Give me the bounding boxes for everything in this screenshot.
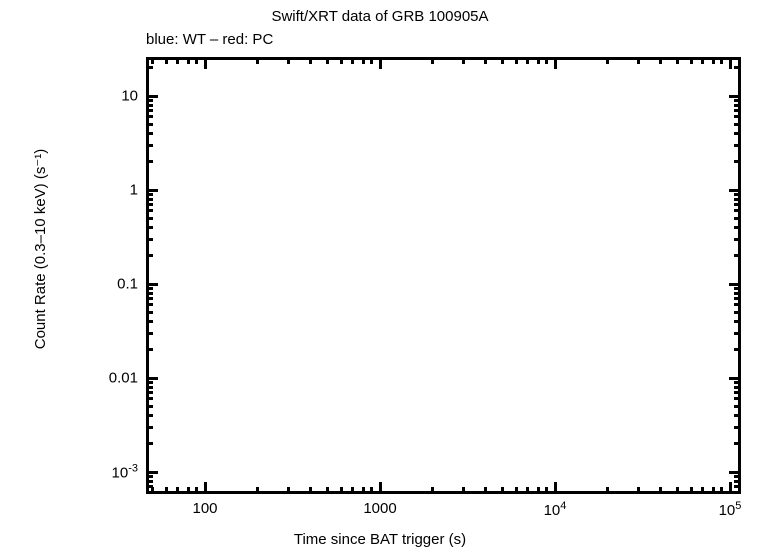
x-major-tick bbox=[204, 482, 207, 494]
y-minor-tick-right bbox=[734, 405, 741, 408]
x-minor-tick-top bbox=[712, 57, 715, 64]
y-minor-tick bbox=[146, 405, 153, 408]
y-minor-tick-right bbox=[734, 203, 741, 206]
x-minor-tick bbox=[712, 487, 715, 494]
y-minor-tick-right bbox=[734, 104, 741, 107]
x-major-tick bbox=[554, 482, 557, 494]
y-minor-tick bbox=[146, 485, 153, 488]
x-minor-tick-top bbox=[676, 57, 679, 64]
y-minor-tick bbox=[146, 311, 153, 314]
x-minor-tick-top bbox=[501, 57, 504, 64]
y-minor-tick-right bbox=[734, 381, 741, 384]
x-minor-tick bbox=[309, 487, 312, 494]
x-minor-tick-top bbox=[151, 57, 154, 64]
y-minor-tick bbox=[146, 123, 153, 126]
x-minor-tick bbox=[351, 487, 354, 494]
y-major-tick-right bbox=[729, 471, 741, 474]
x-minor-tick bbox=[606, 487, 609, 494]
y-minor-tick bbox=[146, 66, 153, 69]
y-minor-tick-right bbox=[734, 238, 741, 241]
plot-frame bbox=[146, 57, 741, 494]
x-minor-tick-top bbox=[659, 57, 662, 64]
chart-title: Swift/XRT data of GRB 100905A bbox=[0, 8, 760, 25]
y-minor-tick-right bbox=[734, 332, 741, 335]
y-minor-tick-right bbox=[734, 132, 741, 135]
x-major-tick-top bbox=[204, 57, 207, 69]
x-minor-tick-top bbox=[690, 57, 693, 64]
x-minor-tick-top bbox=[484, 57, 487, 64]
y-minor-tick bbox=[146, 297, 153, 300]
x-minor-tick bbox=[462, 487, 465, 494]
y-minor-tick bbox=[146, 287, 153, 290]
x-major-tick bbox=[379, 482, 382, 494]
y-minor-tick bbox=[146, 193, 153, 196]
x-minor-tick bbox=[287, 487, 290, 494]
x-minor-tick-top bbox=[309, 57, 312, 64]
x-minor-tick bbox=[187, 487, 190, 494]
y-major-tick bbox=[146, 283, 158, 286]
x-tick-label: 104 bbox=[544, 500, 567, 519]
y-major-tick bbox=[146, 471, 158, 474]
y-major-tick-right bbox=[729, 283, 741, 286]
x-minor-tick bbox=[545, 487, 548, 494]
y-minor-tick-right bbox=[734, 209, 741, 212]
y-minor-tick bbox=[146, 217, 153, 220]
y-minor-tick-right bbox=[734, 226, 741, 229]
x-minor-tick-top bbox=[526, 57, 529, 64]
y-minor-tick-right bbox=[734, 485, 741, 488]
x-tick-label: 100 bbox=[192, 500, 217, 517]
y-minor-tick bbox=[146, 203, 153, 206]
y-minor-tick-right bbox=[734, 311, 741, 314]
x-minor-tick-top bbox=[351, 57, 354, 64]
y-minor-tick bbox=[146, 491, 153, 494]
x-major-tick-top bbox=[554, 57, 557, 69]
y-minor-tick-right bbox=[734, 320, 741, 323]
y-minor-tick-right bbox=[734, 217, 741, 220]
y-major-tick-right bbox=[729, 189, 741, 192]
y-minor-tick bbox=[146, 386, 153, 389]
y-minor-tick bbox=[146, 414, 153, 417]
y-minor-tick-right bbox=[734, 397, 741, 400]
y-minor-tick bbox=[146, 132, 153, 135]
x-minor-tick bbox=[659, 487, 662, 494]
y-major-tick bbox=[146, 189, 158, 192]
y-minor-tick bbox=[146, 480, 153, 483]
y-minor-tick bbox=[146, 104, 153, 107]
x-minor-tick bbox=[431, 487, 434, 494]
x-minor-tick-top bbox=[637, 57, 640, 64]
y-minor-tick-right bbox=[734, 475, 741, 478]
y-minor-tick-right bbox=[734, 99, 741, 102]
x-minor-tick bbox=[690, 487, 693, 494]
chart-legend: blue: WT – red: PC bbox=[146, 31, 273, 48]
y-minor-tick bbox=[146, 391, 153, 394]
x-minor-tick bbox=[537, 487, 540, 494]
x-minor-tick-top bbox=[720, 57, 723, 64]
y-minor-tick-right bbox=[734, 193, 741, 196]
y-minor-tick bbox=[146, 254, 153, 257]
x-axis-label: Time since BAT trigger (s) bbox=[0, 531, 760, 548]
x-minor-tick bbox=[526, 487, 529, 494]
x-minor-tick-top bbox=[431, 57, 434, 64]
x-minor-tick bbox=[370, 487, 373, 494]
x-minor-tick bbox=[256, 487, 259, 494]
y-minor-tick bbox=[146, 226, 153, 229]
x-tick-label: 105 bbox=[719, 500, 742, 519]
x-major-tick-top bbox=[729, 57, 732, 69]
y-major-tick-right bbox=[729, 377, 741, 380]
y-minor-tick-right bbox=[734, 287, 741, 290]
y-major-tick bbox=[146, 377, 158, 380]
x-minor-tick bbox=[326, 487, 329, 494]
x-minor-tick bbox=[676, 487, 679, 494]
x-tick-label: 1000 bbox=[363, 500, 396, 517]
x-minor-tick-top bbox=[701, 57, 704, 64]
y-major-tick bbox=[146, 95, 158, 98]
y-minor-tick-right bbox=[734, 66, 741, 69]
y-minor-tick bbox=[146, 397, 153, 400]
x-minor-tick-top bbox=[340, 57, 343, 64]
y-minor-tick bbox=[146, 292, 153, 295]
x-minor-tick-top bbox=[515, 57, 518, 64]
x-minor-tick bbox=[515, 487, 518, 494]
y-minor-tick bbox=[146, 209, 153, 212]
y-tick-label: 0.1 bbox=[78, 276, 138, 293]
x-minor-tick-top bbox=[187, 57, 190, 64]
x-major-tick bbox=[729, 482, 732, 494]
y-minor-tick bbox=[146, 348, 153, 351]
x-minor-tick-top bbox=[165, 57, 168, 64]
chart-canvas: Swift/XRT data of GRB 100905A blue: WT –… bbox=[0, 0, 760, 558]
x-minor-tick bbox=[195, 487, 198, 494]
y-minor-tick bbox=[146, 99, 153, 102]
y-minor-tick-right bbox=[734, 292, 741, 295]
y-minor-tick-right bbox=[734, 480, 741, 483]
y-minor-tick-right bbox=[734, 254, 741, 257]
y-minor-tick bbox=[146, 332, 153, 335]
y-minor-tick-right bbox=[734, 386, 741, 389]
y-major-tick-right bbox=[729, 95, 741, 98]
y-tick-label: 0.01 bbox=[78, 370, 138, 387]
x-minor-tick-top bbox=[326, 57, 329, 64]
y-minor-tick bbox=[146, 198, 153, 201]
y-minor-tick bbox=[146, 426, 153, 429]
x-minor-tick bbox=[176, 487, 179, 494]
y-minor-tick bbox=[146, 442, 153, 445]
y-tick-label: 10 bbox=[78, 88, 138, 105]
x-minor-tick-top bbox=[287, 57, 290, 64]
x-minor-tick-top bbox=[545, 57, 548, 64]
y-minor-tick bbox=[146, 115, 153, 118]
y-minor-tick bbox=[146, 144, 153, 147]
y-minor-tick bbox=[146, 381, 153, 384]
x-minor-tick bbox=[720, 487, 723, 494]
x-minor-tick-top bbox=[362, 57, 365, 64]
y-minor-tick bbox=[146, 109, 153, 112]
y-minor-tick-right bbox=[734, 414, 741, 417]
x-minor-tick bbox=[340, 487, 343, 494]
y-minor-tick-right bbox=[734, 123, 741, 126]
x-minor-tick bbox=[362, 487, 365, 494]
y-minor-tick-right bbox=[734, 348, 741, 351]
x-minor-tick-top bbox=[370, 57, 373, 64]
x-minor-tick-top bbox=[195, 57, 198, 64]
y-minor-tick-right bbox=[734, 115, 741, 118]
y-minor-tick-right bbox=[734, 491, 741, 494]
y-minor-tick-right bbox=[734, 144, 741, 147]
y-tick-label: 1 bbox=[78, 182, 138, 199]
y-minor-tick-right bbox=[734, 109, 741, 112]
y-axis-label: Count Rate (0.3–10 keV) (s⁻¹) bbox=[31, 99, 49, 399]
x-minor-tick-top bbox=[537, 57, 540, 64]
x-minor-tick bbox=[165, 487, 168, 494]
x-minor-tick-top bbox=[606, 57, 609, 64]
y-minor-tick-right bbox=[734, 442, 741, 445]
x-minor-tick bbox=[701, 487, 704, 494]
x-minor-tick bbox=[484, 487, 487, 494]
y-minor-tick bbox=[146, 320, 153, 323]
x-minor-tick-top bbox=[462, 57, 465, 64]
y-minor-tick bbox=[146, 238, 153, 241]
x-minor-tick bbox=[637, 487, 640, 494]
y-minor-tick-right bbox=[734, 198, 741, 201]
x-minor-tick-top bbox=[176, 57, 179, 64]
y-minor-tick-right bbox=[734, 160, 741, 163]
y-minor-tick bbox=[146, 303, 153, 306]
y-minor-tick-right bbox=[734, 297, 741, 300]
x-minor-tick bbox=[501, 487, 504, 494]
y-minor-tick-right bbox=[734, 426, 741, 429]
y-minor-tick-right bbox=[734, 391, 741, 394]
y-tick-label: 10-3 bbox=[78, 463, 138, 482]
y-minor-tick-right bbox=[734, 303, 741, 306]
x-major-tick-top bbox=[379, 57, 382, 69]
y-minor-tick bbox=[146, 475, 153, 478]
y-minor-tick bbox=[146, 160, 153, 163]
x-minor-tick-top bbox=[256, 57, 259, 64]
